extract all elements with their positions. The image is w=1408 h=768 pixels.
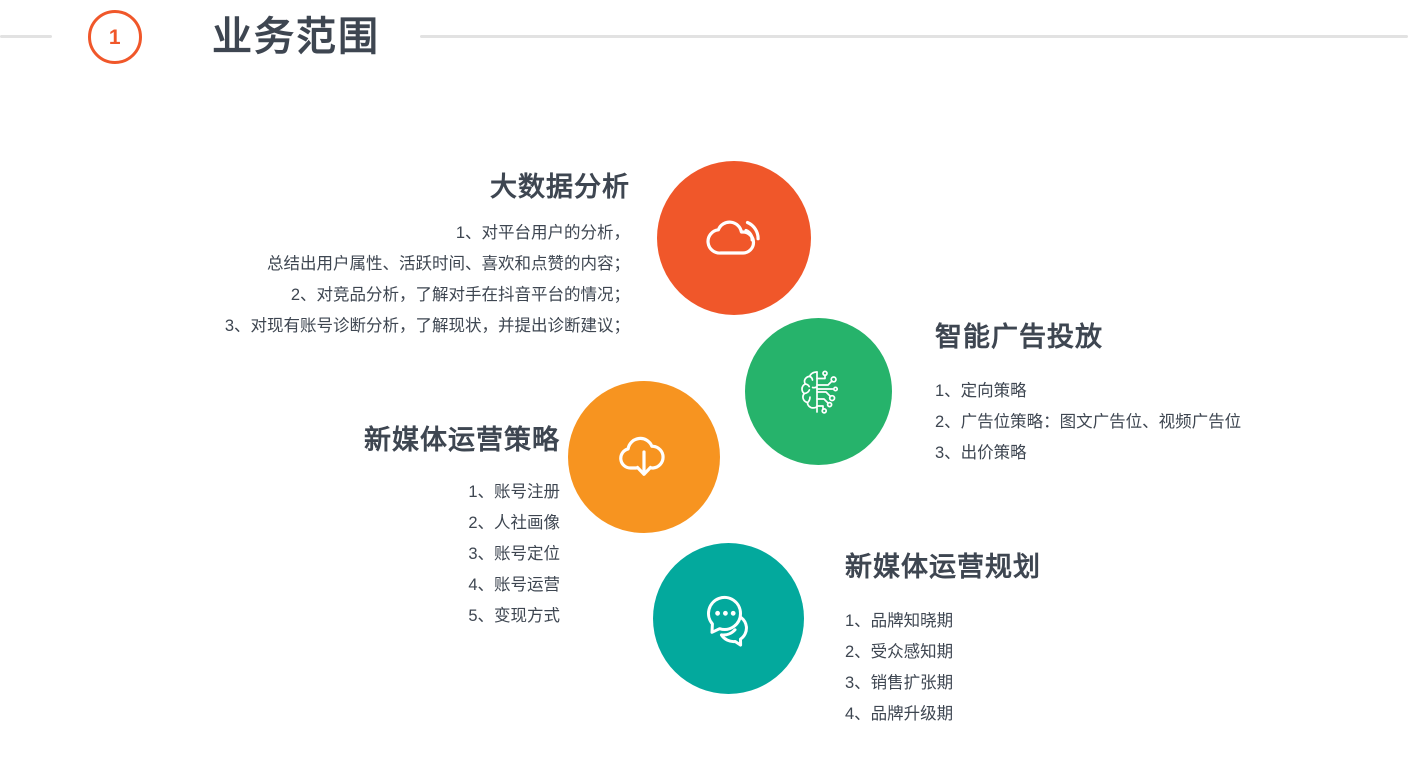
page-title: 业务范围 bbox=[212, 9, 380, 65]
block-ads-title: 智能广告投放 bbox=[935, 318, 1365, 356]
circle-bigdata[interactable] bbox=[657, 161, 811, 315]
list-item: 总结出用户属性、活跃时间、喜欢和点赞的内容； bbox=[20, 249, 630, 280]
list-item: 1、品牌知晓期 bbox=[845, 606, 1225, 637]
circle-operations[interactable] bbox=[568, 381, 720, 533]
block-planning: 新媒体运营规划 1、品牌知晓期 2、受众感知期 3、销售扩张期 4、品牌升级期 bbox=[845, 548, 1225, 730]
block-planning-title: 新媒体运营规划 bbox=[845, 548, 1225, 586]
block-operations: 新媒体运营策略 1、账号注册 2、人社画像 3、账号定位 4、账号运营 5、变现… bbox=[250, 421, 560, 632]
list-item: 3、出价策略 bbox=[935, 438, 1365, 469]
list-item: 2、人社画像 bbox=[250, 508, 560, 539]
cloud-download-icon bbox=[609, 422, 679, 492]
block-operations-list: 1、账号注册 2、人社画像 3、账号定位 4、账号运营 5、变现方式 bbox=[250, 477, 560, 632]
list-item: 4、账号运营 bbox=[250, 570, 560, 601]
list-item: 1、账号注册 bbox=[250, 477, 560, 508]
list-item: 2、受众感知期 bbox=[845, 637, 1225, 668]
list-item: 2、对竞品分析，了解对手在抖音平台的情况； bbox=[20, 280, 630, 311]
chat-bubbles-icon bbox=[694, 584, 764, 654]
header-rule-left bbox=[0, 35, 52, 38]
list-item: 2、广告位策略：图文广告位、视频广告位 bbox=[935, 407, 1365, 438]
ai-brain-circuit-icon bbox=[788, 361, 850, 423]
list-item: 5、变现方式 bbox=[250, 601, 560, 632]
header-rule-right bbox=[420, 35, 1408, 38]
cloud-signal-icon bbox=[699, 203, 769, 273]
block-planning-list: 1、品牌知晓期 2、受众感知期 3、销售扩张期 4、品牌升级期 bbox=[845, 606, 1225, 730]
list-item: 3、销售扩张期 bbox=[845, 668, 1225, 699]
block-bigdata: 大数据分析 1、对平台用户的分析， 总结出用户属性、活跃时间、喜欢和点赞的内容；… bbox=[20, 168, 630, 342]
section-number-label: 1 bbox=[109, 27, 121, 48]
section-number-badge: 1 bbox=[88, 10, 142, 64]
list-item: 3、对现有账号诊断分析，了解现状，并提出诊断建议； bbox=[20, 311, 630, 342]
list-item: 1、对平台用户的分析， bbox=[20, 218, 630, 249]
list-item: 3、账号定位 bbox=[250, 539, 560, 570]
slide-header: 1 业务范围 bbox=[0, 0, 1408, 75]
circle-ads[interactable] bbox=[745, 318, 892, 465]
circle-planning[interactable] bbox=[653, 543, 804, 694]
block-ads: 智能广告投放 1、定向策略 2、广告位策略：图文广告位、视频广告位 3、出价策略 bbox=[935, 318, 1365, 469]
block-bigdata-list: 1、对平台用户的分析， 总结出用户属性、活跃时间、喜欢和点赞的内容； 2、对竞品… bbox=[20, 218, 630, 342]
block-operations-title: 新媒体运营策略 bbox=[250, 421, 560, 459]
block-bigdata-title: 大数据分析 bbox=[20, 168, 630, 206]
list-item: 4、品牌升级期 bbox=[845, 699, 1225, 730]
list-item: 1、定向策略 bbox=[935, 376, 1365, 407]
block-ads-list: 1、定向策略 2、广告位策略：图文广告位、视频广告位 3、出价策略 bbox=[935, 376, 1365, 469]
